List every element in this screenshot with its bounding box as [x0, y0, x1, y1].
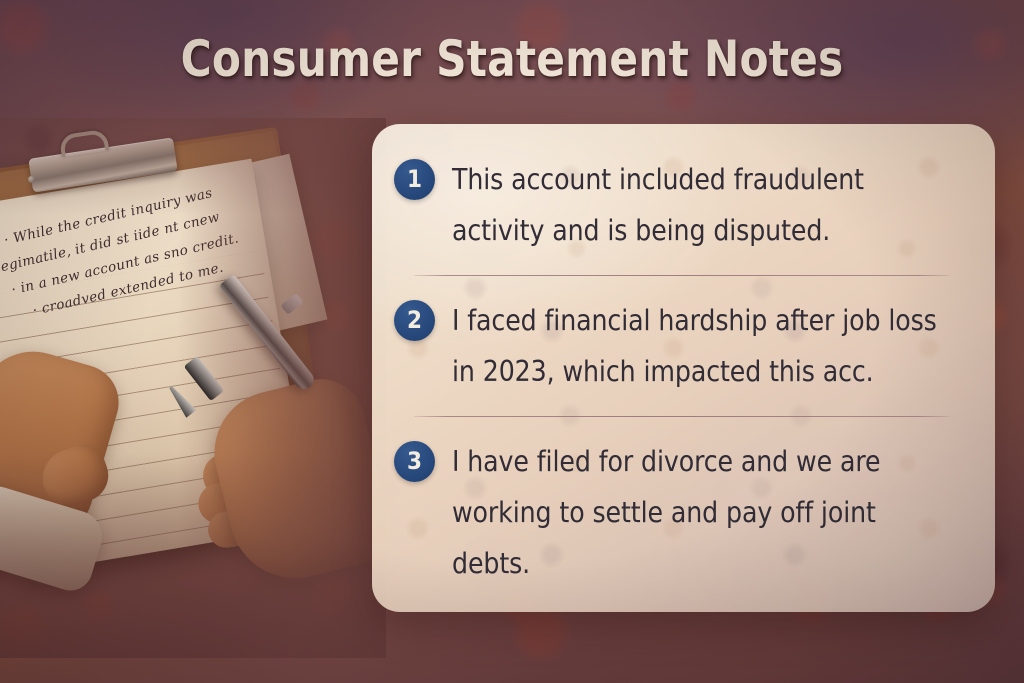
note-number-badge-1: 1 — [394, 159, 435, 200]
note-divider-2 — [414, 416, 949, 417]
note-number-badge-3: 3 — [394, 441, 435, 482]
note-item-2: 2 I faced financial hardship after job l… — [392, 295, 969, 397]
note-text-3: I have filed for divorce and we are work… — [452, 436, 959, 589]
note-number-badge-2: 2 — [394, 300, 435, 341]
page-title: Consumer Statement Notes — [31, 30, 994, 88]
notes-card: 1 This account included fraudulent activ… — [372, 124, 995, 612]
note-divider-1 — [414, 275, 949, 276]
note-item-3: 3 I have filed for divorce and we are wo… — [392, 436, 969, 589]
clipboard-photo: · While the credit inquiry was legimatil… — [0, 118, 386, 658]
slide-canvas: · While the credit inquiry was legimatil… — [0, 0, 1024, 683]
note-text-2: I faced financial hardship after job los… — [452, 295, 959, 397]
photo-blend-fade — [0, 118, 386, 658]
note-text-1: This account included fraudulent activit… — [452, 154, 959, 256]
note-item-1: 1 This account included fraudulent activ… — [392, 154, 969, 256]
